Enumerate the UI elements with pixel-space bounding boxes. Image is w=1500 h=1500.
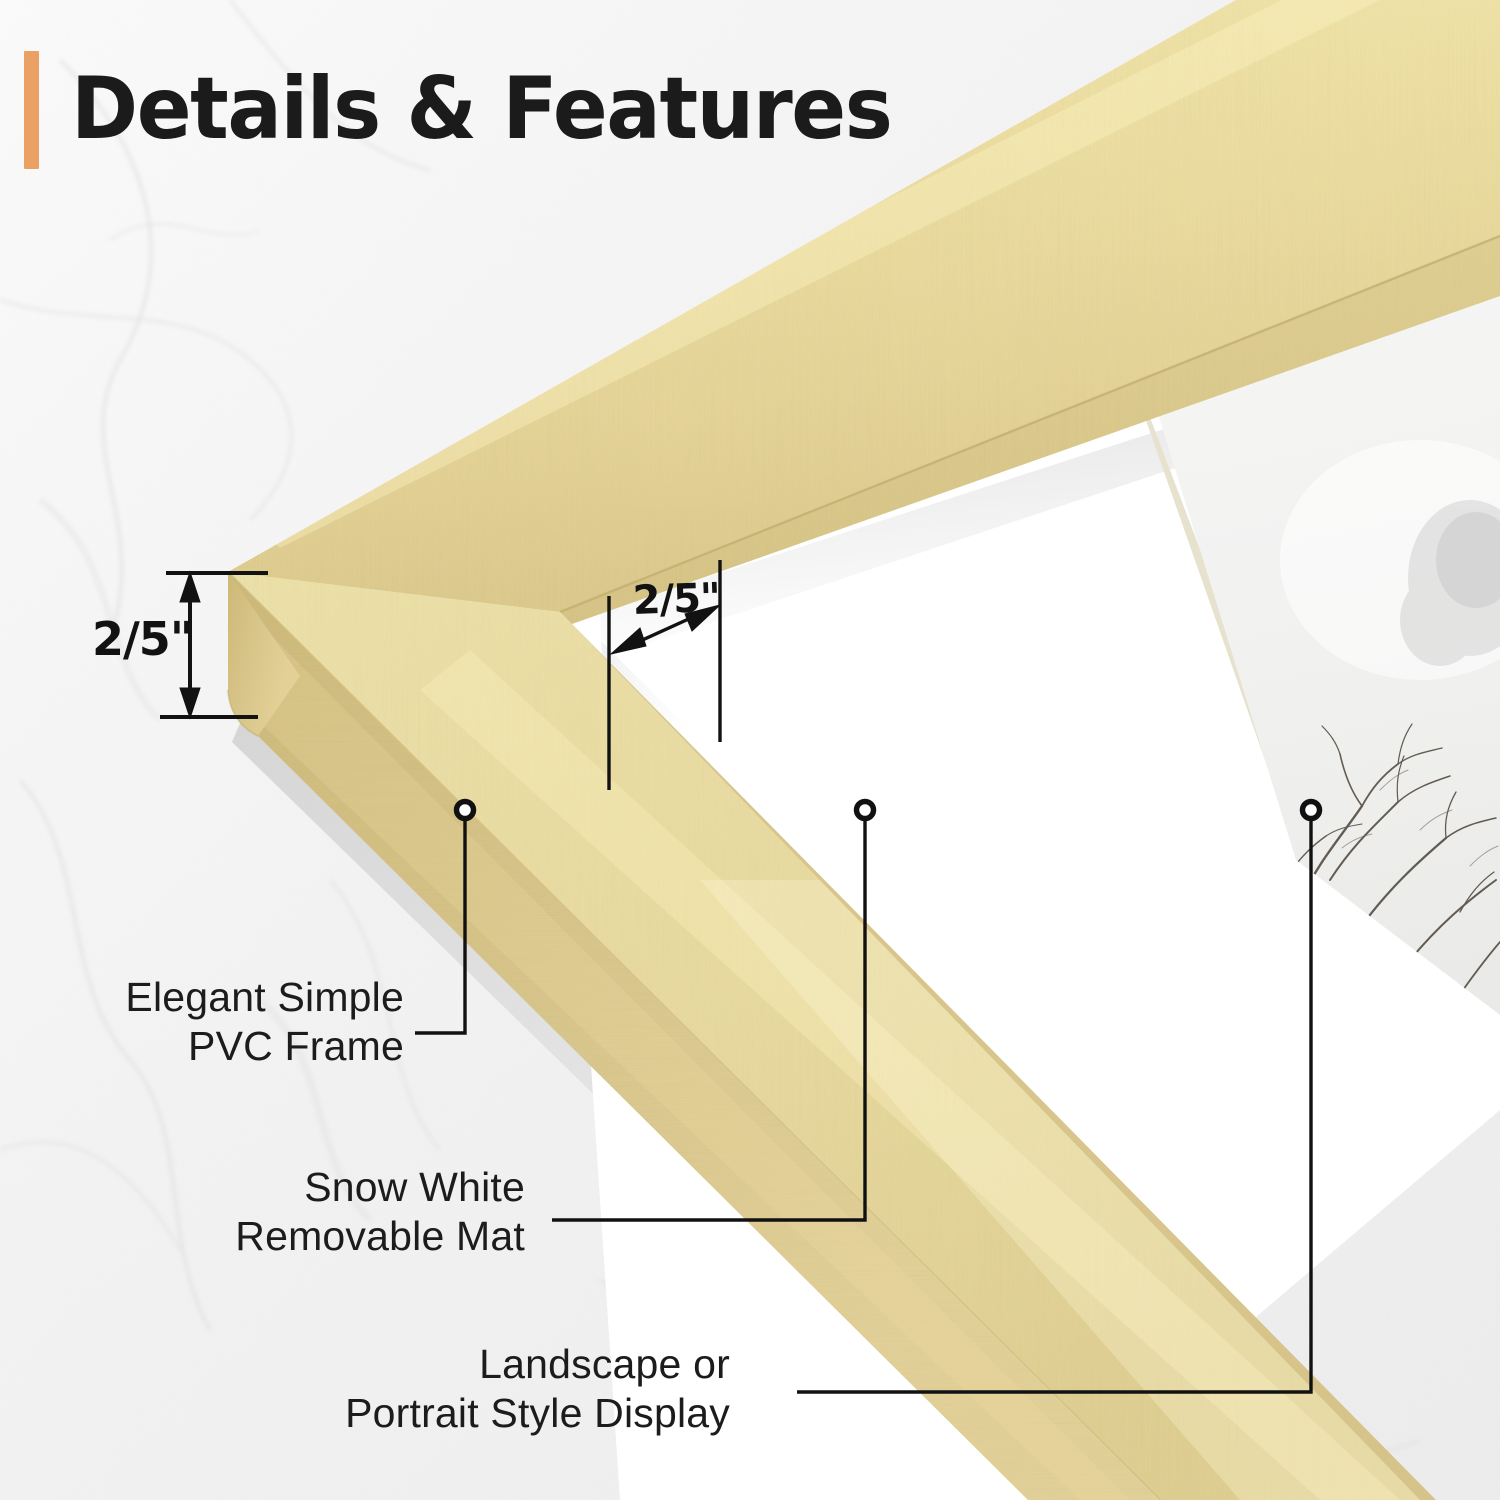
callout-marker-dot bbox=[857, 802, 874, 819]
callout-line: PVC Frame bbox=[92, 1022, 404, 1071]
callout-display-orientation: Landscape or Portrait Style Display bbox=[300, 1340, 730, 1438]
callout-pvc-frame: Elegant Simple PVC Frame bbox=[92, 973, 404, 1071]
callout-line: Elegant Simple bbox=[92, 973, 404, 1022]
product-scene bbox=[0, 0, 1500, 1500]
title-accent-bar bbox=[24, 51, 39, 169]
callout-line: Portrait Style Display bbox=[300, 1389, 730, 1438]
callout-marker-dot bbox=[457, 802, 474, 819]
dimension-label-frame-depth: 2/5" bbox=[92, 612, 193, 666]
callout-line: Snow White bbox=[200, 1163, 525, 1212]
callout-marker-dot bbox=[1303, 802, 1320, 819]
callout-removable-mat: Snow White Removable Mat bbox=[200, 1163, 525, 1261]
callout-line: Landscape or bbox=[300, 1340, 730, 1389]
page-title: Details & Features bbox=[0, 48, 944, 172]
infographic-canvas: Details & Features 2/5" 2/5" Elegant Sim… bbox=[0, 0, 1500, 1500]
callout-line: Removable Mat bbox=[200, 1212, 525, 1261]
page-title-text: Details & Features bbox=[71, 69, 891, 151]
dimension-label-frame-width: 2/5" bbox=[632, 575, 721, 624]
